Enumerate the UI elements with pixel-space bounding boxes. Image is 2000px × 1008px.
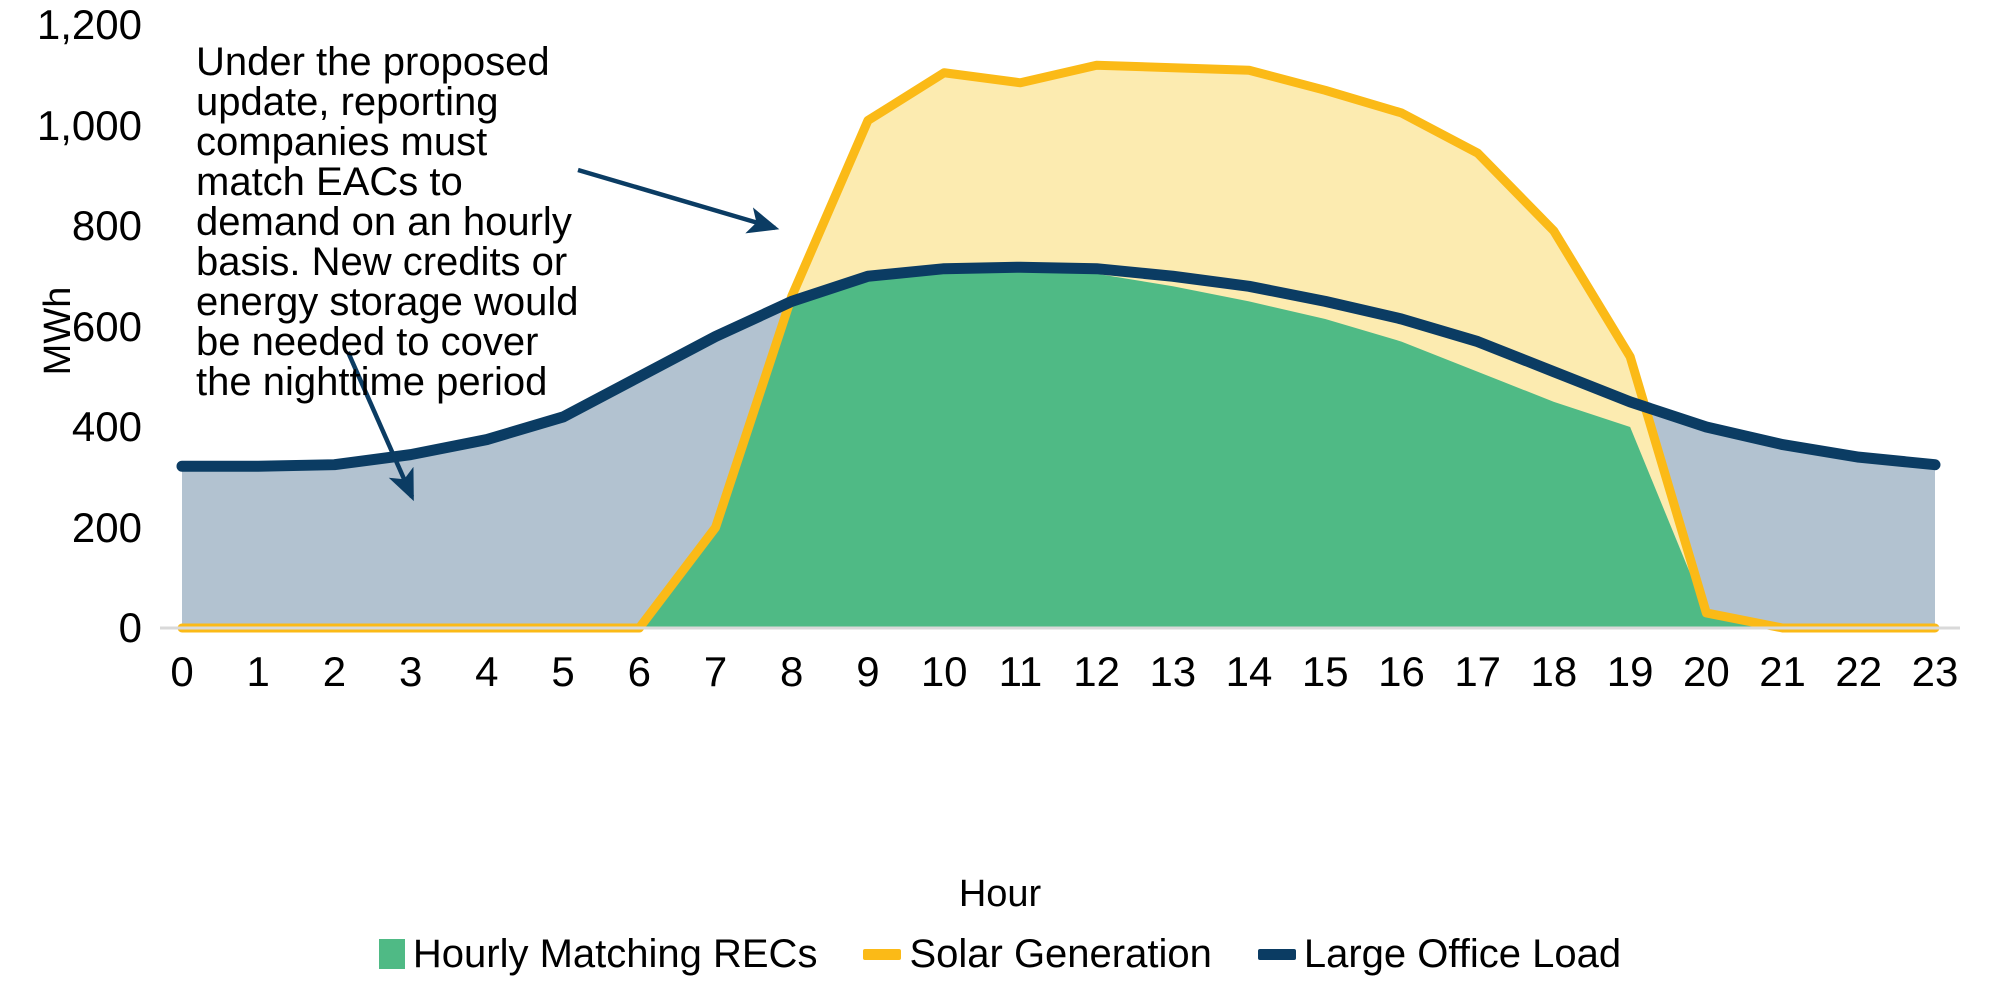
x-tick-label: 18: [1514, 648, 1594, 696]
x-tick-label: 6: [599, 648, 679, 696]
x-tick-label: 22: [1819, 648, 1899, 696]
x-tick-label: 12: [1057, 648, 1137, 696]
x-tick-label: 21: [1743, 648, 1823, 696]
x-tick-label: 3: [371, 648, 451, 696]
x-tick-label: 13: [1133, 648, 1213, 696]
x-tick-label: 11: [980, 648, 1060, 696]
legend-label: Hourly Matching RECs: [413, 932, 818, 976]
x-tick-label: 17: [1438, 648, 1518, 696]
x-tick-label: 5: [523, 648, 603, 696]
chart-legend: Hourly Matching RECsSolar GenerationLarg…: [0, 932, 2000, 976]
annotation-text: Under the proposed update, reporting com…: [196, 42, 596, 402]
x-tick-label: 9: [828, 648, 908, 696]
x-tick-label: 4: [447, 648, 527, 696]
legend-swatch-square-icon: [379, 939, 405, 969]
x-tick-label: 10: [904, 648, 984, 696]
x-tick-label: 19: [1590, 648, 1670, 696]
x-tick-label: 7: [676, 648, 756, 696]
legend-item[interactable]: Solar Generation: [863, 932, 1211, 976]
legend-item[interactable]: Large Office Load: [1258, 932, 1621, 976]
x-tick-label: 16: [1361, 648, 1441, 696]
x-tick-label: 8: [752, 648, 832, 696]
x-tick-label: 15: [1285, 648, 1365, 696]
arrow-to-solar-surplus: [578, 170, 775, 228]
legend-swatch-line-icon: [1258, 949, 1296, 960]
x-tick-label: 20: [1666, 648, 1746, 696]
x-tick-label: 14: [1209, 648, 1289, 696]
x-tick-label: 23: [1895, 648, 1975, 696]
x-tick-label: 0: [142, 648, 222, 696]
legend-label: Solar Generation: [909, 932, 1211, 976]
legend-item[interactable]: Hourly Matching RECs: [379, 932, 818, 976]
hourly-matching-chart: MWh 02004006008001,0001,200 Under the pr…: [0, 0, 2000, 1008]
x-tick-label: 1: [218, 648, 298, 696]
legend-swatch-line-icon: [863, 949, 901, 960]
x-axis-title: Hour: [0, 872, 2000, 916]
legend-label: Large Office Load: [1304, 932, 1621, 976]
x-axis-tick-labels: 01234567891011121314151617181920212223: [160, 648, 1960, 708]
x-tick-label: 2: [294, 648, 374, 696]
